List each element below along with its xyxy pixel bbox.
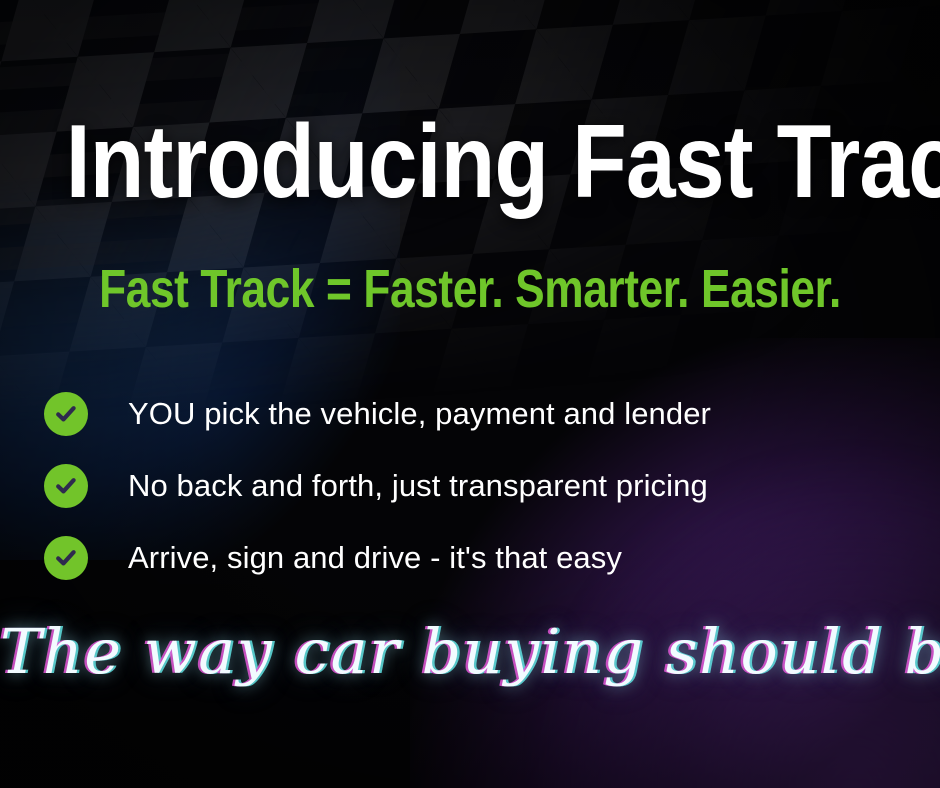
- check-circle-icon: [44, 392, 88, 436]
- subtitle: Fast Track = Faster. Smarter. Easier.: [85, 262, 856, 316]
- benefits-list: YOU pick the vehicle, payment and lender…: [44, 378, 904, 594]
- tagline: The way car buying should be.: [0, 616, 940, 687]
- list-item-label: Arrive, sign and drive - it's that easy: [128, 540, 622, 576]
- check-circle-icon: [44, 536, 88, 580]
- page-title: Introducing Fast Track: [66, 110, 874, 214]
- check-circle-icon: [44, 464, 88, 508]
- list-item-label: YOU pick the vehicle, payment and lender: [128, 396, 711, 432]
- list-item: Arrive, sign and drive - it's that easy: [44, 522, 904, 594]
- list-item: YOU pick the vehicle, payment and lender: [44, 378, 904, 450]
- poster-content: Introducing Fast Track Fast Track = Fast…: [0, 0, 940, 788]
- promo-poster: Introducing Fast Track Fast Track = Fast…: [0, 0, 940, 788]
- list-item-label: No back and forth, just transparent pric…: [128, 468, 708, 504]
- list-item: No back and forth, just transparent pric…: [44, 450, 904, 522]
